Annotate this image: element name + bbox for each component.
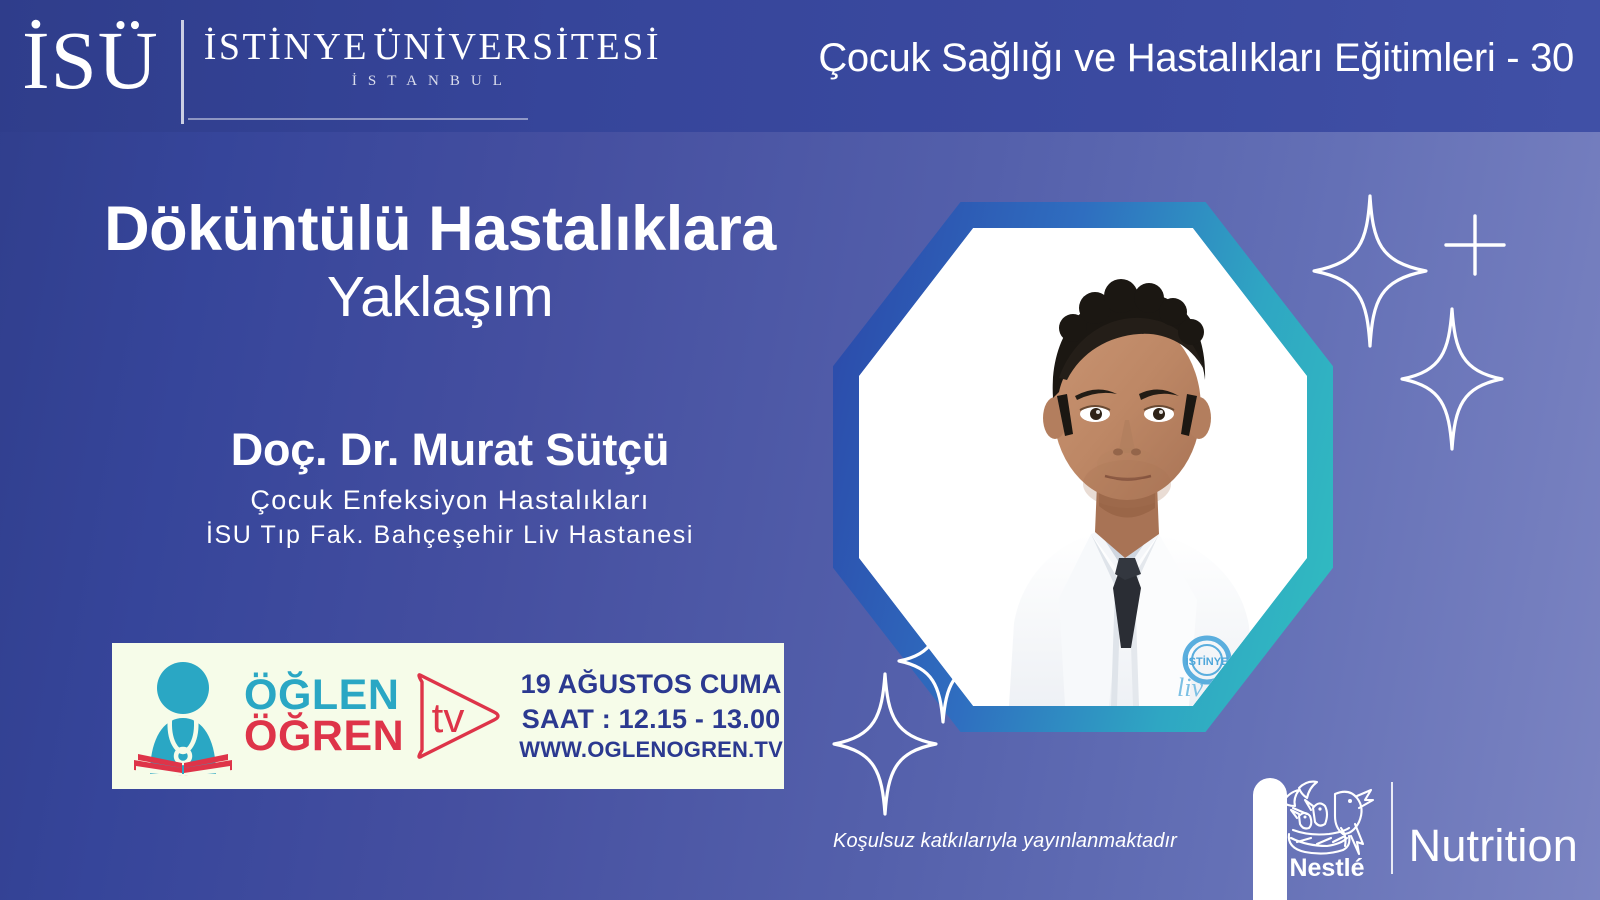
broadcast-info-banner[interactable]: ÖĞLEN ÖĞREN tv 19 AĞUSTOS CUMA SAAT : 12… (112, 643, 784, 789)
doctor-reading-icon (128, 656, 238, 776)
event-poster: İSÜ İSTİNYE ÜNİVERSİTESİ İSTANBUL Çocuk … (0, 0, 1600, 900)
logo-divider (181, 20, 184, 124)
speaker-info: Doç. Dr. Murat Sütçü Çocuk Enfeksiyon Ha… (0, 424, 900, 550)
university-city: İSTANBUL (204, 73, 661, 90)
isu-monogram: İSÜ (22, 12, 159, 101)
sparkle-icon (1398, 305, 1506, 453)
university-logo: İSÜ İSTİNYE ÜNİVERSİTESİ İSTANBUL (22, 12, 661, 124)
broadcast-website[interactable]: WWW.OGLENOGREN.TV (518, 736, 784, 764)
oglen-ogren-wordmark: ÖĞLEN ÖĞREN (244, 675, 404, 758)
speaker-photo: İSTİNYE liv (859, 228, 1307, 706)
nestle-wordmark: Nestlé (1289, 854, 1364, 880)
plus-icon (1440, 210, 1510, 280)
brand-word-ogren: ÖĞREN (244, 716, 404, 757)
nestle-divider (1391, 782, 1393, 874)
speaker-name: Doç. Dr. Murat Sütçü (0, 424, 900, 476)
series-title: Çocuk Sağlığı ve Hastalıkları Eğitimleri… (818, 36, 1574, 81)
speaker-affiliation: İSU Tıp Fak. Bahçeşehir Liv Hastanesi (0, 521, 900, 550)
nestle-bird-nest-icon: Nestlé (1273, 768, 1381, 880)
broadcast-details: 19 AĞUSTOS CUMA SAAT : 12.15 - 13.00 WWW… (518, 667, 784, 764)
play-triangle-icon: tv (408, 664, 504, 768)
logo-underline (188, 118, 528, 120)
university-wordmark: İSTİNYE ÜNİVERSİTESİ İSTANBUL (204, 12, 661, 90)
sponsor-disclaimer: Koşulsuz katkılarıyla yayınlanmaktadır (833, 830, 1177, 853)
coat-badge-text: İSTİNYE (1186, 655, 1229, 668)
brand-word-oglen: ÖĞLEN (244, 675, 404, 716)
header-bar: İSÜ İSTİNYE ÜNİVERSİTESİ İSTANBUL Çocuk … (0, 0, 1600, 132)
speaker-portrait-frame: İSTİNYE liv (833, 202, 1333, 732)
broadcast-time: SAAT : 12.15 - 13.00 (518, 702, 784, 737)
broadcast-date: 19 AĞUSTOS CUMA (518, 667, 784, 702)
page-title: Döküntülü Hastalıklara Yaklaşım (0, 196, 880, 333)
nestle-logo: Nestlé Nutrition (1273, 768, 1578, 880)
talk-title-line1: Döküntülü Hastalıklara (0, 196, 880, 263)
speaker-role: Çocuk Enfeksiyon Hastalıkları (0, 485, 900, 516)
tv-label: tv (432, 694, 465, 741)
talk-title-line2: Yaklaşım (0, 263, 880, 333)
portrait-clip: İSTİNYE liv (859, 228, 1307, 706)
university-name-line1: İSTİNYE (204, 26, 369, 68)
nutrition-wordmark: Nutrition (1409, 820, 1578, 880)
university-name-line2: ÜNİVERSİTESİ (373, 26, 661, 68)
